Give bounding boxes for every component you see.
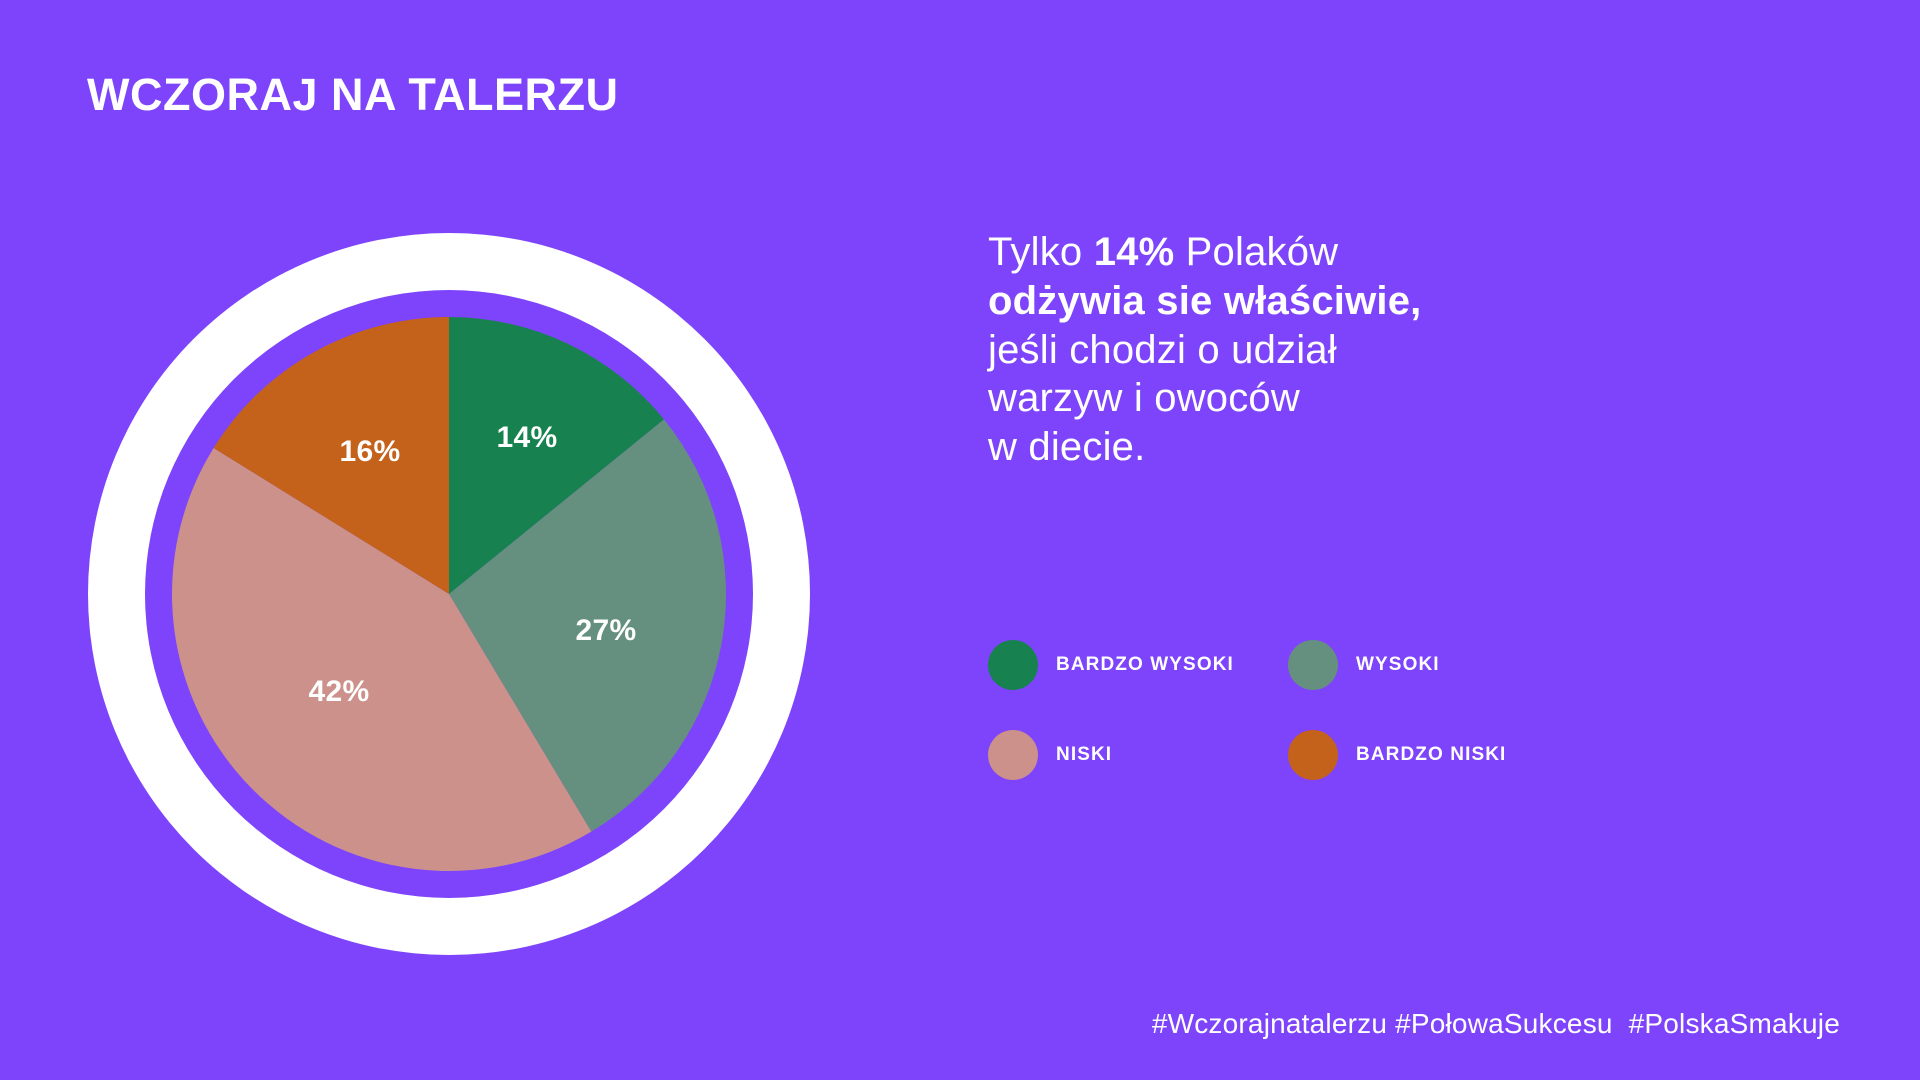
headline-line-1-pre: Tylko (988, 230, 1094, 274)
pie-chart: 14%27%42%16% (88, 233, 810, 955)
headline-line-1-post: Polaków (1174, 230, 1338, 274)
pie-slices (172, 317, 726, 871)
legend-item[interactable]: BARDZO NISKI (1288, 710, 1588, 800)
legend-color-swatch-icon (1288, 640, 1338, 690)
footer-hashtags: #Wczorajnatalerzu #PołowaSukcesu #Polska… (1152, 1008, 1840, 1040)
headline-line-4: warzyw i owoców (988, 374, 1748, 423)
legend-color-swatch-icon (988, 640, 1038, 690)
legend-item-label: WYSOKI (1356, 654, 1440, 676)
legend-item[interactable]: BARDZO WYSOKI (988, 620, 1288, 710)
headline-text: Tylko 14% Polaków odżywia sie właściwie,… (988, 228, 1748, 472)
chart-legend: BARDZO WYSOKIWYSOKINISKIBARDZO NISKI (988, 620, 1608, 800)
legend-color-swatch-icon (988, 730, 1038, 780)
page-title: WCZORAJ NA TALERZU (87, 70, 618, 120)
headline-line-2: odżywia sie właściwie, (988, 277, 1748, 326)
headline-block: Tylko 14% Polaków odżywia sie właściwie,… (988, 228, 1748, 472)
legend-color-swatch-icon (1288, 730, 1338, 780)
legend-item[interactable]: NISKI (988, 710, 1288, 800)
legend-item[interactable]: WYSOKI (1288, 620, 1588, 710)
headline-line-3: jeśli chodzi o udział (988, 326, 1748, 375)
headline-line-5: w diecie. (988, 423, 1748, 472)
legend-item-label: BARDZO NISKI (1356, 744, 1506, 766)
headline-line-1: Tylko 14% Polaków (988, 228, 1748, 277)
headline-line-1-percent: 14% (1094, 230, 1175, 274)
infographic-canvas: WCZORAJ NA TALERZU 14%27%42%16% Tylko 14… (0, 0, 1920, 1080)
legend-item-label: NISKI (1056, 744, 1112, 766)
legend-item-label: BARDZO WYSOKI (1056, 654, 1234, 676)
